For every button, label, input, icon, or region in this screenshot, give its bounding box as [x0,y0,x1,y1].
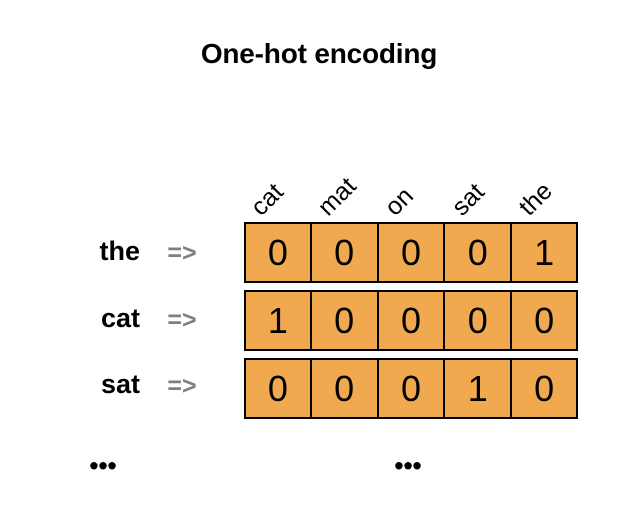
arrow-icon-cat: => [150,306,214,335]
one-hot-matrix: 0 0 0 0 1 1 0 0 0 0 0 0 0 1 0 [244,222,578,419]
one-hot-encoding-figure: One-hot encoding cat mat on sat the the … [0,0,638,522]
matrix-cell-cat-cat: 1 [244,290,311,351]
matrix-cell-the-cat: 0 [244,222,311,283]
ellipsis-row-labels: ••• [89,451,116,482]
row-label-sat: sat [0,369,140,400]
table-row: 0 0 0 0 1 [244,222,578,283]
matrix-cell-sat-the: 0 [511,358,578,419]
row-label-group-the: the [0,236,140,270]
column-header-mat: mat [312,172,362,222]
matrix-cell-cat-on: 0 [378,290,445,351]
row-arrow-group-cat: => [150,306,214,336]
row-label-group-sat: sat [0,369,140,403]
column-header-group: cat mat on sat the [0,0,638,222]
matrix-cell-sat-on: 0 [378,358,445,419]
matrix-cell-cat-mat: 0 [311,290,378,351]
ellipsis-matrix: ••• [394,451,421,482]
matrix-cell-the-mat: 0 [311,222,378,283]
matrix-cell-sat-cat: 0 [244,358,311,419]
matrix-cell-sat-mat: 0 [311,358,378,419]
row-label-the: the [0,236,140,267]
table-row: 0 0 0 1 0 [244,358,578,419]
matrix-cell-sat-sat: 1 [444,358,511,419]
column-header-the: the [513,177,558,222]
matrix-cell-cat-the: 0 [511,290,578,351]
table-row: 1 0 0 0 0 [244,290,578,351]
matrix-cell-cat-sat: 0 [444,290,511,351]
row-arrow-group-sat: => [150,372,214,402]
column-header-cat: cat [245,178,289,222]
row-arrow-group-the: => [150,239,214,269]
matrix-cell-the-sat: 0 [444,222,511,283]
column-header-on: on [379,182,419,222]
column-header-sat: sat [446,178,490,222]
matrix-cell-the-the: 1 [511,222,578,283]
row-label-cat: cat [0,303,140,334]
row-label-group-cat: cat [0,303,140,337]
arrow-icon-the: => [150,239,214,268]
matrix-cell-the-on: 0 [378,222,445,283]
arrow-icon-sat: => [150,372,214,401]
